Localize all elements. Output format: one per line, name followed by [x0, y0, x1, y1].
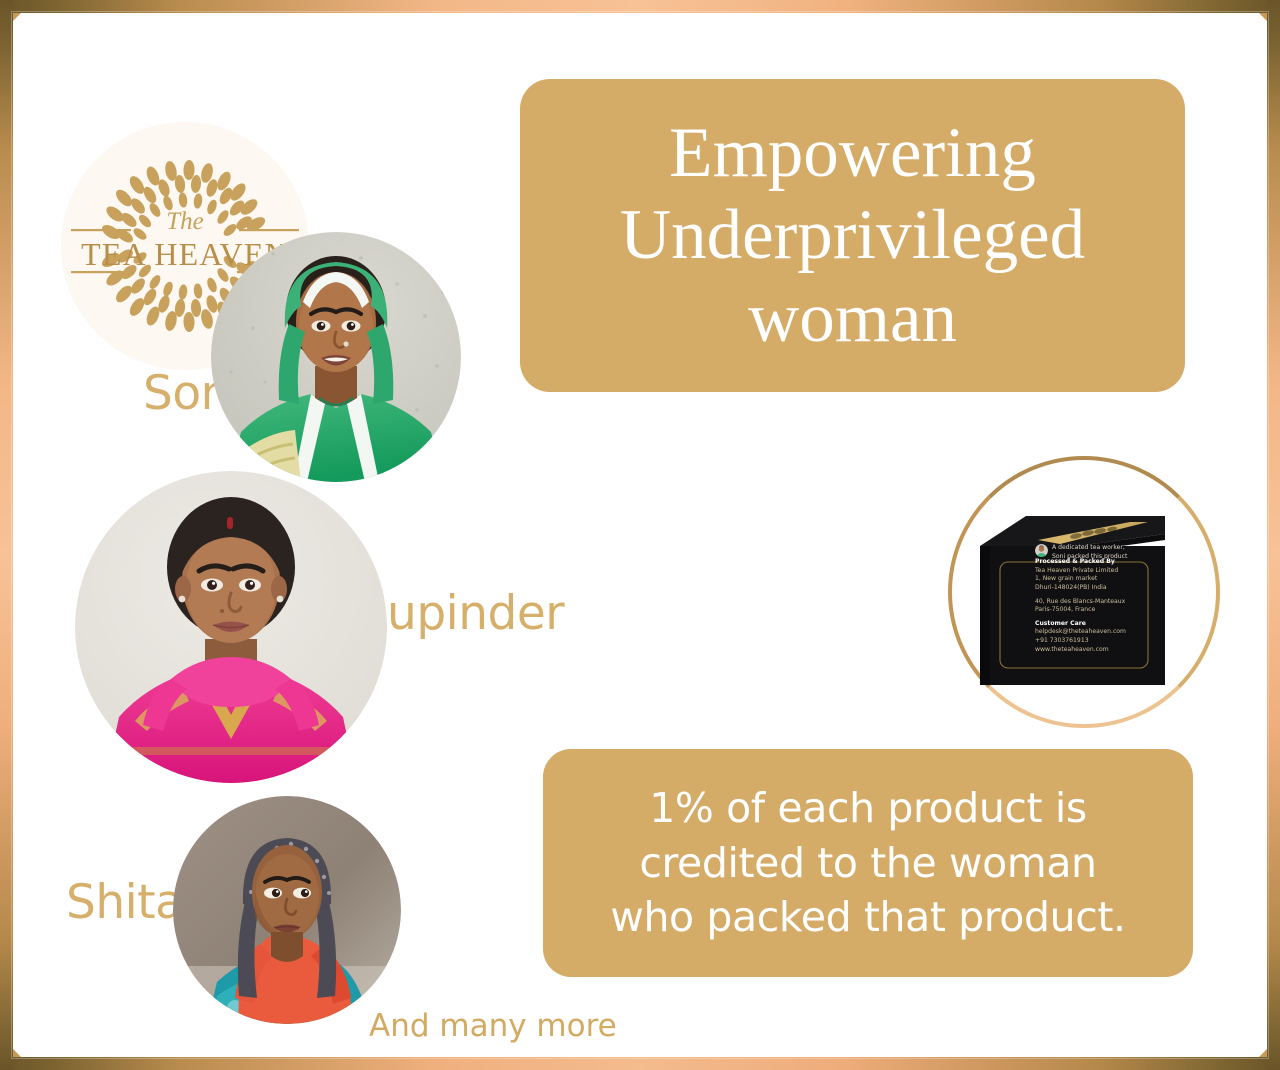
box-worker-caption: A dedicated tea worker, Soni packed this…: [1052, 544, 1150, 562]
frame-left-edge: [0, 0, 13, 1070]
box-worker-caption-line-2: Soni packed this product: [1052, 553, 1150, 562]
box-worker-caption-line-1: A dedicated tea worker,: [1052, 544, 1150, 553]
and-many-more-label: And many more: [369, 1008, 617, 1044]
logo-script-word: The: [166, 208, 204, 235]
headline-banner: Empowering Underprivileged woman: [520, 79, 1185, 392]
box-address-line-1: 40, Rue des Blancs-Manteaux: [1035, 598, 1155, 607]
worker-photo-bhupinder: [75, 471, 387, 783]
pledge-banner: 1% of each product is credited to the wo…: [543, 749, 1193, 977]
headline-line-1: Empowering: [620, 112, 1085, 194]
pledge-line-3: who packed that product.: [610, 890, 1125, 945]
frame-bottom-edge: [0, 1057, 1280, 1070]
frame-top-edge: [0, 0, 1280, 13]
box-customer-care-website: www.theteaheaven.com: [1035, 646, 1155, 655]
worker-photo-soni: [211, 232, 461, 482]
poster-canvas: The TEA HEAVEN: [13, 13, 1267, 1057]
box-packed-by-line-2: 1, New grain market: [1035, 575, 1155, 584]
box-packed-by-line-1: Tea Heaven Private Limited: [1035, 567, 1155, 576]
poster-root: The TEA HEAVEN: [0, 0, 1280, 1070]
headline-line-2: Underprivileged: [620, 194, 1085, 276]
headline-text: Empowering Underprivileged woman: [594, 112, 1111, 359]
frame-right-edge: [1267, 0, 1280, 1070]
pledge-line-2: credited to the woman: [610, 836, 1125, 891]
pledge-line-1: 1% of each product is: [610, 781, 1125, 836]
box-worker-avatar-icon: [1035, 544, 1048, 557]
headline-line-3: woman: [620, 277, 1085, 359]
worker-photo-shital: [173, 796, 401, 1024]
box-address-line-2: Paris-75004, France: [1035, 606, 1155, 615]
pledge-text: 1% of each product is credited to the wo…: [584, 781, 1151, 946]
box-customer-care-email: helpdesk@theteaheaven.com: [1035, 628, 1155, 637]
box-customer-care-phone: +91 7303761913: [1035, 637, 1155, 646]
box-packed-by-line-3: Dhuri-148024(PB) India: [1035, 584, 1155, 593]
